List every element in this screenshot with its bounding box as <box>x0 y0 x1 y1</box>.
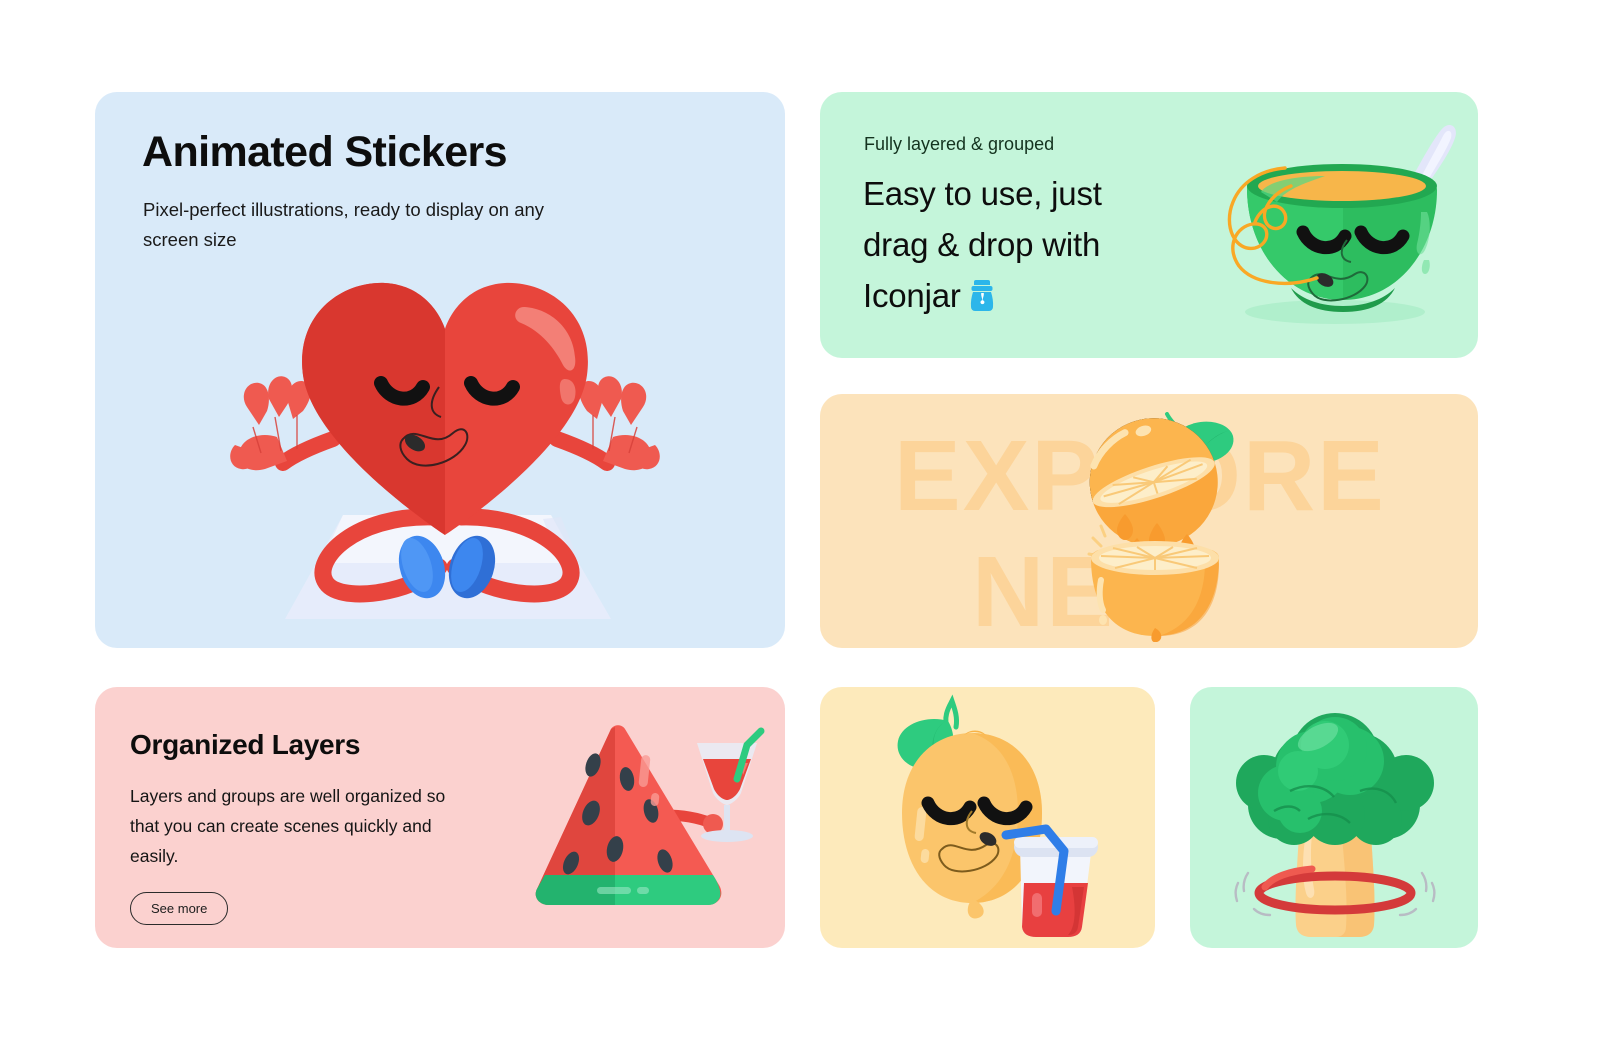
card-lemon-sticker[interactable] <box>820 687 1155 948</box>
card-easy-to-use[interactable]: Fully layered & grouped Easy to use, jus… <box>820 92 1478 358</box>
card-broccoli-sticker[interactable] <box>1190 687 1478 948</box>
squeezed-orange-illustration <box>1045 412 1265 642</box>
iconjar-logo-icon <box>967 276 997 327</box>
meditating-heart-illustration <box>225 267 665 637</box>
hero-subtitle: Pixel-perfect illustrations, ready to di… <box>143 195 563 255</box>
broccoli-hula-hoop-illustration <box>1190 687 1478 948</box>
easy-headline: Easy to use, just drag & drop with Iconj… <box>863 168 1193 327</box>
headline-line-2: drag & drop with <box>863 226 1100 263</box>
layers-title: Organized Layers <box>130 729 360 761</box>
card-organized-layers[interactable]: Organized Layers Layers and groups are w… <box>95 687 785 948</box>
card-explore-new[interactable]: EXPLORE NEW <box>820 394 1478 648</box>
watermelon-cocktail-illustration <box>515 697 775 942</box>
noodle-bowl-illustration <box>1175 120 1475 340</box>
page-title: Animated Stickers <box>142 128 507 177</box>
headline-line-3: Iconjar <box>863 277 961 314</box>
layers-body: Layers and groups are well organized so … <box>130 781 475 871</box>
see-more-button[interactable]: See more <box>130 892 228 925</box>
card-animated-stickers[interactable]: Animated Stickers Pixel-perfect illustra… <box>95 92 785 648</box>
eyebrow-label: Fully layered & grouped <box>864 134 1054 155</box>
lemon-smoothie-illustration <box>820 687 1155 948</box>
headline-line-1: Easy to use, just <box>863 175 1102 212</box>
sticker-pack-showcase: Animated Stickers Pixel-perfect illustra… <box>0 0 1600 1064</box>
